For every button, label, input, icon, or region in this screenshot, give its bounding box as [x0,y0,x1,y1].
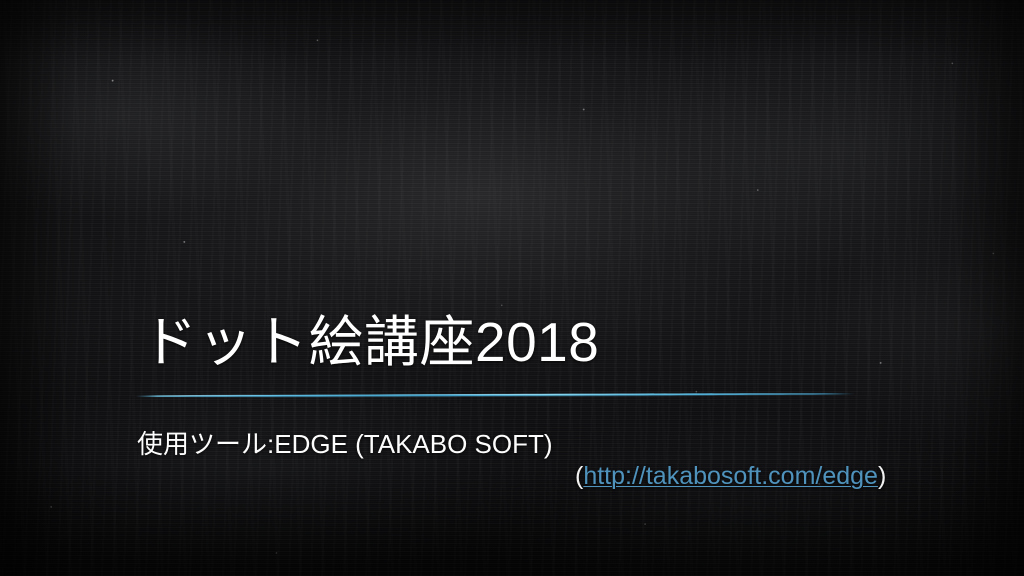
brush-stroke-divider-icon [132,386,858,404]
title-divider-line [132,386,858,404]
tool-website-link[interactable]: http://takabosoft.com/edge [583,462,878,490]
slide-title: ドット絵講座2018 [142,312,599,374]
slide-url-line: (http://takabosoft.com/edge) [575,461,886,492]
url-close-paren: ) [878,462,886,490]
presentation-slide: ドット絵講座2018 [0,0,1024,576]
slide-subtitle-tool: 使用ツール:EDGE (TAKABO SOFT) [137,428,553,461]
slide-content: ドット絵講座2018 [0,0,1024,576]
